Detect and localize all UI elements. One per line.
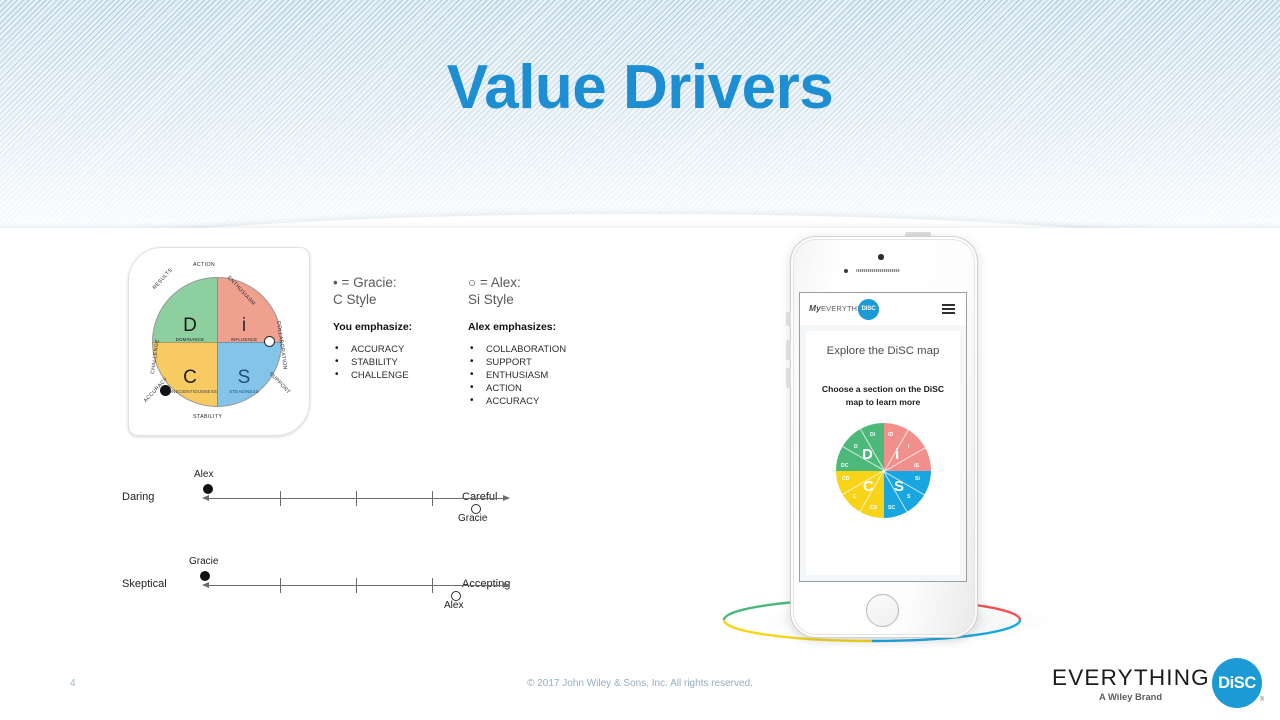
ring-label-action: ACTION — [193, 262, 215, 268]
slide-canvas: Value Drivers D DOMINANCE i INFLUENCE C … — [0, 0, 1280, 720]
scale-left-label: Skeptical — [122, 578, 167, 590]
disc-map-wheel: D DOMINANCE i INFLUENCE C CONSCIENTIOUSN… — [133, 258, 301, 426]
app-logo-badge: DiSC — [858, 299, 879, 320]
legend-alex-key: ○ = Alex: — [468, 274, 608, 291]
disc-marker-gracie — [160, 385, 171, 396]
app-screen-instruction: Choose a section on the DiSC map to lear… — [816, 383, 950, 409]
scale-tick — [356, 578, 357, 593]
hamburger-menu-icon[interactable] — [942, 304, 955, 314]
brand-wordmark: EVERYTHING — [1052, 665, 1210, 691]
app-wheel-letter-c: C — [863, 478, 874, 495]
list-item: SUPPORT — [468, 356, 608, 369]
list-item: ACTION — [468, 382, 608, 395]
disc-letter-c: C — [165, 368, 215, 387]
phone-earpiece-speaker — [856, 269, 900, 272]
scale-left-label: Daring — [122, 491, 154, 503]
brand-badge-text: DiSC — [1212, 674, 1262, 693]
legend-alex: ○ = Alex: Si Style Alex emphasizes: COLL… — [468, 274, 608, 408]
scale-point-label-gracie: Gracie — [189, 556, 218, 567]
app-header: MyEVERYTHING DiSC — [800, 293, 966, 326]
app-content: Explore the DiSC map Choose a section on… — [800, 325, 966, 581]
scale-tick — [432, 578, 433, 593]
list-item: ACCURACY — [468, 395, 608, 408]
disc-letter-d: D — [165, 316, 215, 335]
app-wheel-segment-cd: CD — [842, 476, 850, 482]
scale-tick — [356, 491, 357, 506]
app-wheel-letter-d: D — [862, 446, 873, 463]
brand-logo: EVERYTHING A Wiley Brand DiSC ® — [1052, 655, 1262, 709]
scale-marker-alex — [203, 484, 213, 494]
scale-point-label-gracie: Gracie — [458, 513, 487, 524]
scale-point-label-alex: Alex — [444, 600, 463, 611]
arrow-left-icon — [202, 582, 209, 588]
list-item: CHALLENGE — [333, 369, 453, 382]
app-wheel-segment-is: iS — [914, 463, 919, 469]
legend-gracie-values: ACCURACY STABILITY CHALLENGE — [333, 343, 453, 382]
disc-marker-alex — [264, 336, 275, 347]
app-wheel-segment-sc: SC — [888, 505, 895, 511]
disc-letter-i: i — [219, 316, 269, 335]
legend-alex-values: COLLABORATION SUPPORT ENTHUSIASM ACTION … — [468, 343, 608, 408]
page-title: Value Drivers — [0, 52, 1280, 123]
brand-badge: DiSC — [1212, 658, 1262, 708]
brand-tagline: A Wiley Brand — [1099, 691, 1162, 702]
phone-volume-down-button[interactable] — [786, 368, 791, 388]
app-wheel-letter-i: i — [895, 446, 899, 463]
scale-point-label-alex: Alex — [194, 469, 213, 480]
disc-label-c: C CONSCIENTIOUSNESS — [165, 368, 215, 395]
app-wheel-segment-d: D — [854, 444, 858, 450]
list-item: ENTHUSIASM — [468, 369, 608, 382]
disc-label-i: i INFLUENCE — [219, 316, 269, 343]
legend-gracie: • = Gracie: C Style You emphasize: ACCUR… — [333, 274, 453, 382]
disc-label-s: S STEADINESS — [219, 368, 269, 395]
legend-gracie-heading: You emphasize: — [333, 321, 453, 333]
disc-name-s: STEADINESS — [219, 388, 269, 395]
phone-mute-switch[interactable] — [786, 312, 791, 326]
disc-name-d: DOMINANCE — [165, 336, 215, 343]
phone-sensor-icon — [844, 269, 848, 273]
app-disc-wheel[interactable]: D i C S Di iD D i DC iS CD Si C S CS SC — [836, 423, 931, 518]
list-item: ACCURACY — [333, 343, 453, 356]
legend-alex-heading: Alex emphasizes: — [468, 321, 608, 333]
scale-tick — [432, 491, 433, 506]
ring-label-stability: STABILITY — [193, 414, 222, 420]
app-wheel-segment-dc: DC — [841, 463, 849, 469]
app-wheel-segment-c: C — [853, 494, 857, 500]
scale-marker-gracie — [200, 571, 210, 581]
phone-volume-up-button[interactable] — [786, 340, 791, 360]
app-content-card: Explore the DiSC map Choose a section on… — [806, 331, 960, 575]
app-wheel-letter-s: S — [894, 478, 904, 495]
app-logo-my: My — [809, 303, 821, 313]
app-wheel-segment-i: i — [908, 444, 909, 450]
app-wheel-segment-di: Di — [870, 432, 875, 438]
list-item: COLLABORATION — [468, 343, 608, 356]
disc-letter-s: S — [219, 368, 269, 387]
arrow-left-icon — [202, 495, 209, 501]
app-wheel-segment-s: S — [907, 494, 910, 500]
list-item: STABILITY — [333, 356, 453, 369]
app-screen-heading: Explore the DiSC map — [806, 345, 960, 357]
scale-tick — [280, 491, 281, 506]
legend-gracie-style: C Style — [333, 291, 453, 308]
disc-name-c: CONSCIENTIOUSNESS — [165, 388, 215, 395]
app-logo-badge-text: DiSC — [858, 305, 879, 312]
phone-screen: MyEVERYTHING DiSC Explore the DiSC map C… — [799, 292, 967, 582]
disc-label-d: D DOMINANCE — [165, 316, 215, 343]
phone-home-button[interactable] — [866, 594, 899, 627]
legend-gracie-key: • = Gracie: — [333, 274, 453, 291]
app-wheel-segment-cs: CS — [870, 505, 877, 511]
scale-right-label: Careful — [462, 491, 497, 503]
legend-alex-style: Si Style — [468, 291, 608, 308]
registered-trademark-icon: ® — [1260, 697, 1264, 703]
app-wheel-segment-id: iD — [888, 432, 893, 438]
phone-front-camera-icon — [878, 254, 884, 260]
scale-tick — [280, 578, 281, 593]
arrow-right-icon — [503, 495, 510, 501]
app-wheel-segment-si: Si — [915, 476, 920, 482]
arrow-right-icon — [503, 582, 510, 588]
disc-name-i: INFLUENCE — [219, 336, 269, 343]
